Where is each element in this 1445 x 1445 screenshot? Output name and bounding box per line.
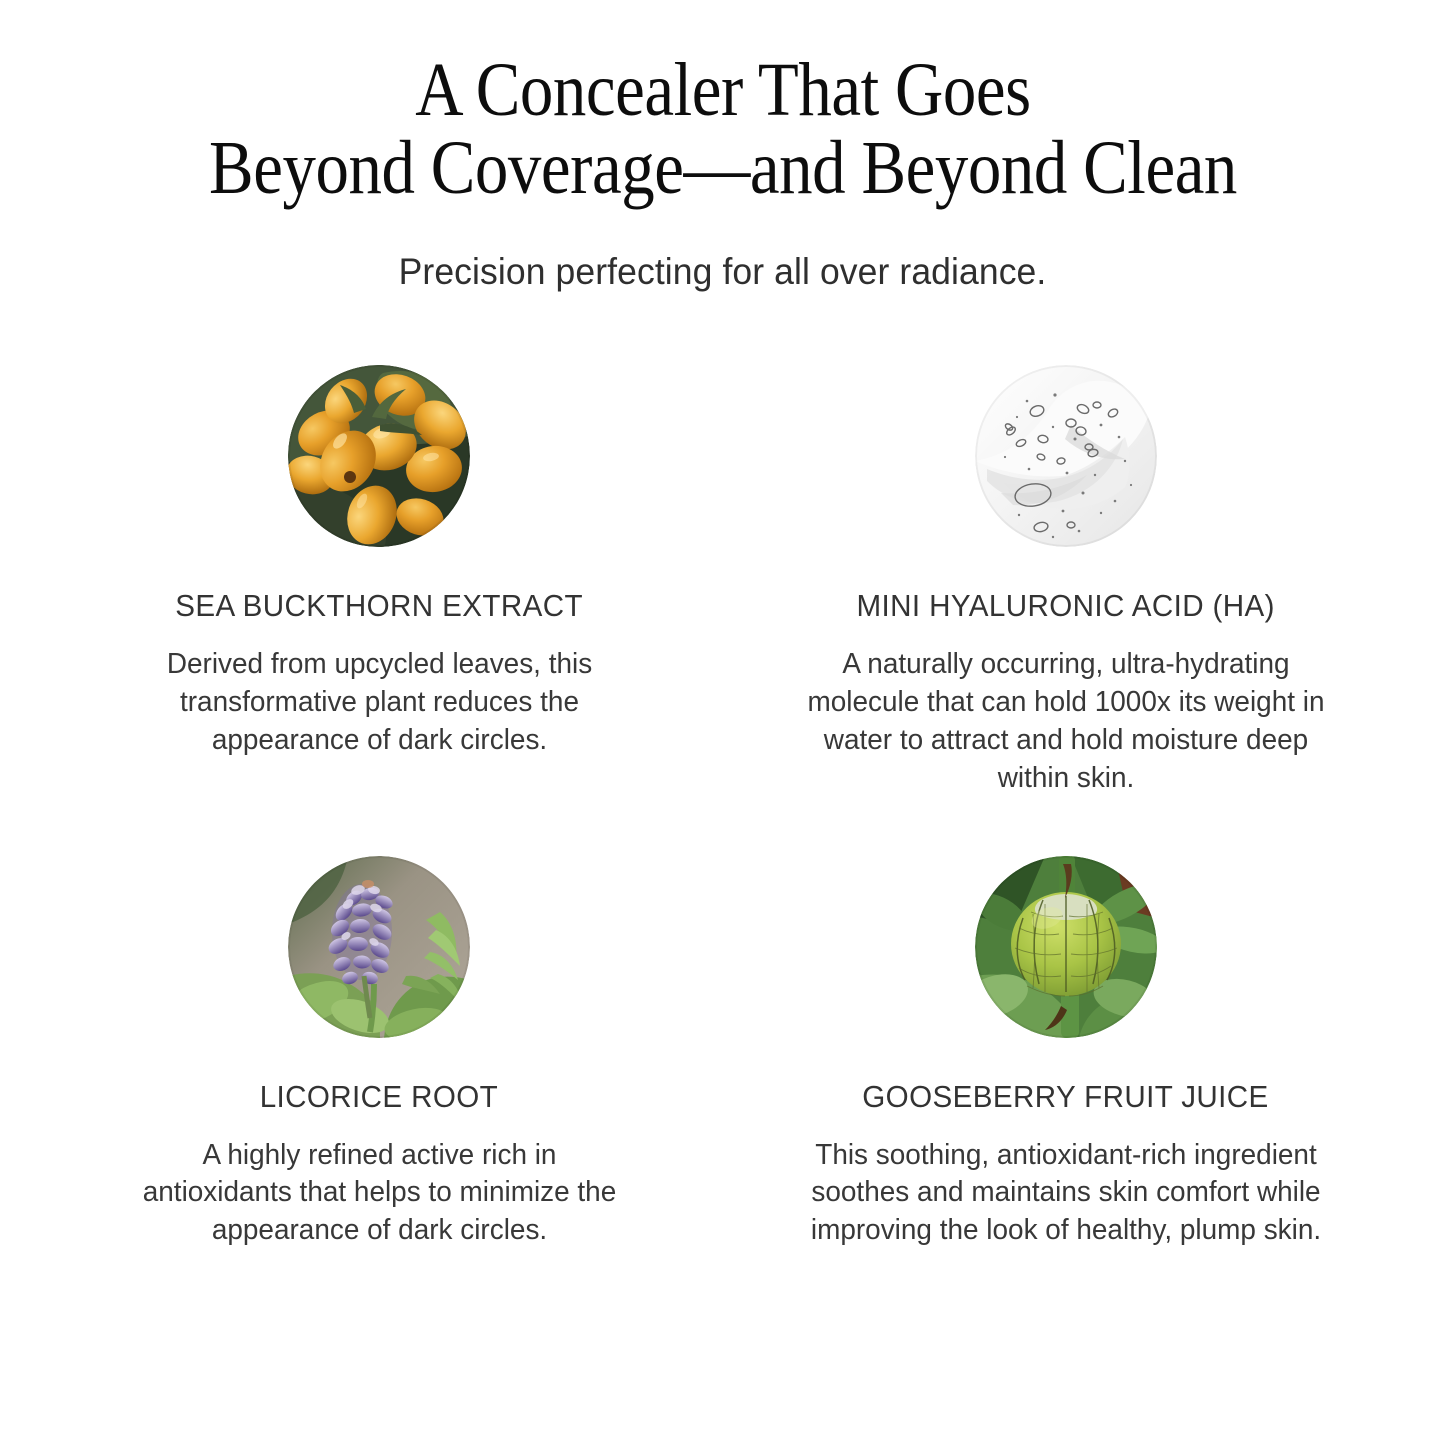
page-header: A Concealer That Goes Beyond Coverage—an… [0, 0, 1445, 293]
page-title-line-2: Beyond Coverage—and Beyond Clean [177, 130, 1268, 208]
ingredient-description: This soothing, antioxidant-rich ingredie… [806, 1137, 1325, 1251]
ingredient-benefits-page: A Concealer That Goes Beyond Coverage—an… [0, 0, 1445, 1445]
ingredient-card-hyaluronic-acid: MINI HYALURONIC ACID (HA) A naturally oc… [723, 365, 1410, 798]
ingredient-title: MINI HYALURONIC ACID (HA) [857, 589, 1275, 624]
hyaluronic-acid-gel-photo [975, 365, 1157, 547]
ingredient-card-gooseberry: GOOSEBERRY FRUIT JUICE This soothing, an… [723, 856, 1410, 1251]
gooseberry-husk-fruit-photo [975, 856, 1157, 1038]
page-title-line-1: A Concealer That Goes [177, 52, 1268, 130]
ingredient-title: LICORICE ROOT [260, 1080, 498, 1115]
page-subtitle: Precision perfecting for all over radian… [29, 251, 1416, 293]
page-title: A Concealer That Goes Beyond Coverage—an… [177, 52, 1268, 207]
ingredient-card-licorice-root: LICORICE ROOT A highly refined active ri… [36, 856, 723, 1251]
ingredient-description: A highly refined active rich in antioxid… [137, 1137, 622, 1251]
licorice-root-flower-photo [288, 856, 470, 1038]
ingredient-description: Derived from upcycled leaves, this trans… [137, 646, 622, 760]
ingredient-grid: SEA BUCKTHORN EXTRACT Derived from upcyc… [0, 365, 1445, 1250]
ingredient-card-sea-buckthorn: SEA BUCKTHORN EXTRACT Derived from upcyc… [36, 365, 723, 798]
ingredient-title: SEA BUCKTHORN EXTRACT [175, 589, 583, 624]
ingredient-description: A naturally occurring, ultra-hydrating m… [806, 646, 1325, 798]
sea-buckthorn-berries-photo [288, 365, 470, 547]
ingredient-title: GOOSEBERRY FRUIT JUICE [863, 1080, 1269, 1115]
